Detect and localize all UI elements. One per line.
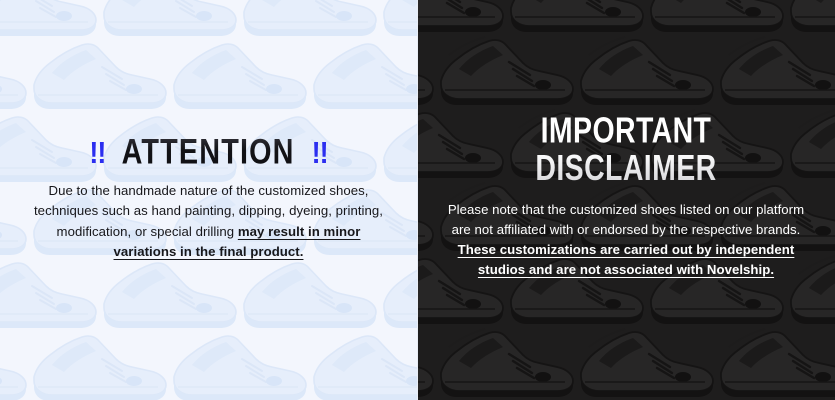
disclaimer-body-emphasis: These customizations are carried out by … [458,242,795,277]
double-exclamation-left-icon: !! [89,138,105,168]
attention-body: Due to the handmade nature of the custom… [26,181,391,261]
panel-divider [417,0,418,400]
customization-notice-banner: !! ATTENTION !! Due to the handmade natu… [0,0,835,400]
disclaimer-heading: IMPORTANT DISCLAIMER [446,114,805,187]
attention-panel: !! ATTENTION !! Due to the handmade natu… [0,0,417,400]
disclaimer-content: IMPORTANT DISCLAIMER Please note that th… [417,120,835,280]
disclaimer-body-normal: Please note that the customized shoes li… [448,202,804,237]
disclaimer-heading-line-1: IMPORTANT [446,114,805,151]
important-disclaimer-panel: IMPORTANT DISCLAIMER Please note that th… [417,0,835,400]
disclaimer-body: Please note that the customized shoes li… [437,200,815,280]
disclaimer-heading-line-2: DISCLAIMER [446,150,805,187]
attention-content: !! ATTENTION !! Due to the handmade natu… [0,138,417,261]
attention-title: ATTENTION [122,136,295,171]
double-exclamation-right-icon: !! [312,138,328,168]
attention-heading: !! ATTENTION !! [26,138,391,168]
